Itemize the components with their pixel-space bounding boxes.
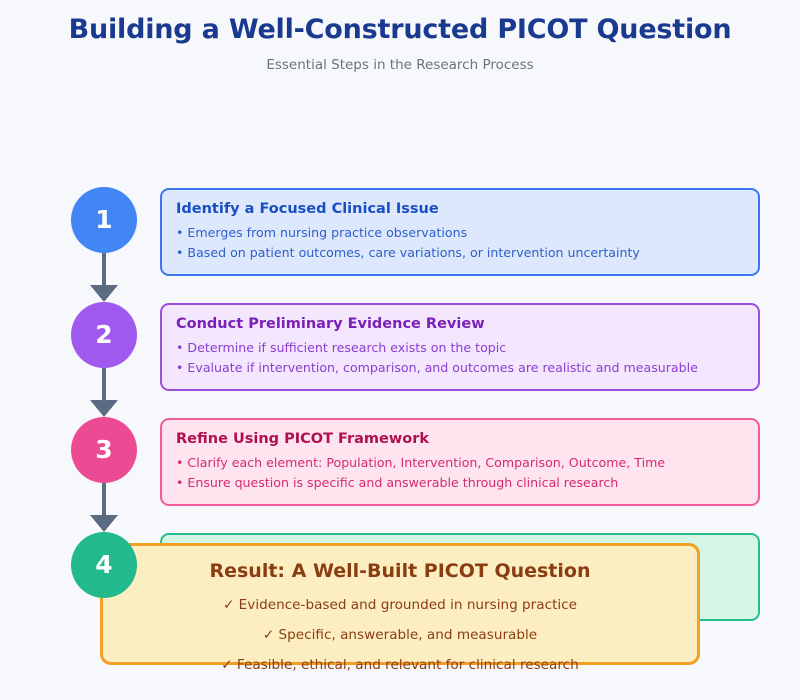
page-title: Building a Well-Constructed PICOT Questi… [0,14,800,46]
step-2-number: 2 [95,320,112,349]
connector-arrow-2-to-3 [96,368,112,417]
step-3-bullet-1: • Clarify each element: Population, Inte… [176,453,744,473]
step-2-bullet-2: • Evaluate if intervention, comparison, … [176,358,744,378]
step-3-number-badge[interactable]: 3 [71,417,137,483]
step-2-card[interactable]: Conduct Preliminary Evidence Review • De… [160,303,760,392]
arrow-down-icon [90,400,118,417]
step-3-number: 3 [95,435,112,464]
step-1-number: 1 [95,205,112,234]
arrow-down-icon [90,515,118,532]
step-2-bullet-1: • Determine if sufficient research exist… [176,338,744,358]
step-3-bullet-2: • Ensure question is specific and answer… [176,473,744,493]
result-item-2: ✓ Specific, answerable, and measurable [103,627,697,643]
step-3-card[interactable]: Refine Using PICOT Framework • Clarify e… [160,418,760,507]
result-title: Result: A Well-Built PICOT Question [103,560,697,583]
connector-stem [102,253,106,286]
result-item-1: ✓ Evidence-based and grounded in nursing… [103,597,697,613]
step-2-title: Conduct Preliminary Evidence Review [176,315,744,333]
step-2-number-badge[interactable]: 2 [71,302,137,368]
result-item-3: ✓ Feasible, ethical, and relevant for cl… [103,657,697,673]
step-1-number-badge[interactable]: 1 [71,187,137,253]
header: Building a Well-Constructed PICOT Questi… [0,0,800,74]
step-1-card[interactable]: Identify a Focused Clinical Issue • Emer… [160,188,760,277]
connector-arrow-3-to-4 [96,483,112,532]
step-4-number: 4 [95,550,112,579]
arrow-down-icon [90,285,118,302]
page-subtitle: Essential Steps in the Research Process [0,57,800,73]
step-4-number-badge[interactable]: 4 [71,532,137,598]
connector-stem [102,368,106,401]
connector-stem [102,483,106,516]
connector-arrow-1-to-2 [96,253,112,302]
step-1-title: Identify a Focused Clinical Issue [176,200,744,218]
step-1-bullet-1: • Emerges from nursing practice observat… [176,223,744,243]
step-1-bullet-2: • Based on patient outcomes, care variat… [176,243,744,263]
step-3-title: Refine Using PICOT Framework [176,430,744,448]
result-card[interactable]: Result: A Well-Built PICOT Question ✓ Ev… [100,543,700,665]
